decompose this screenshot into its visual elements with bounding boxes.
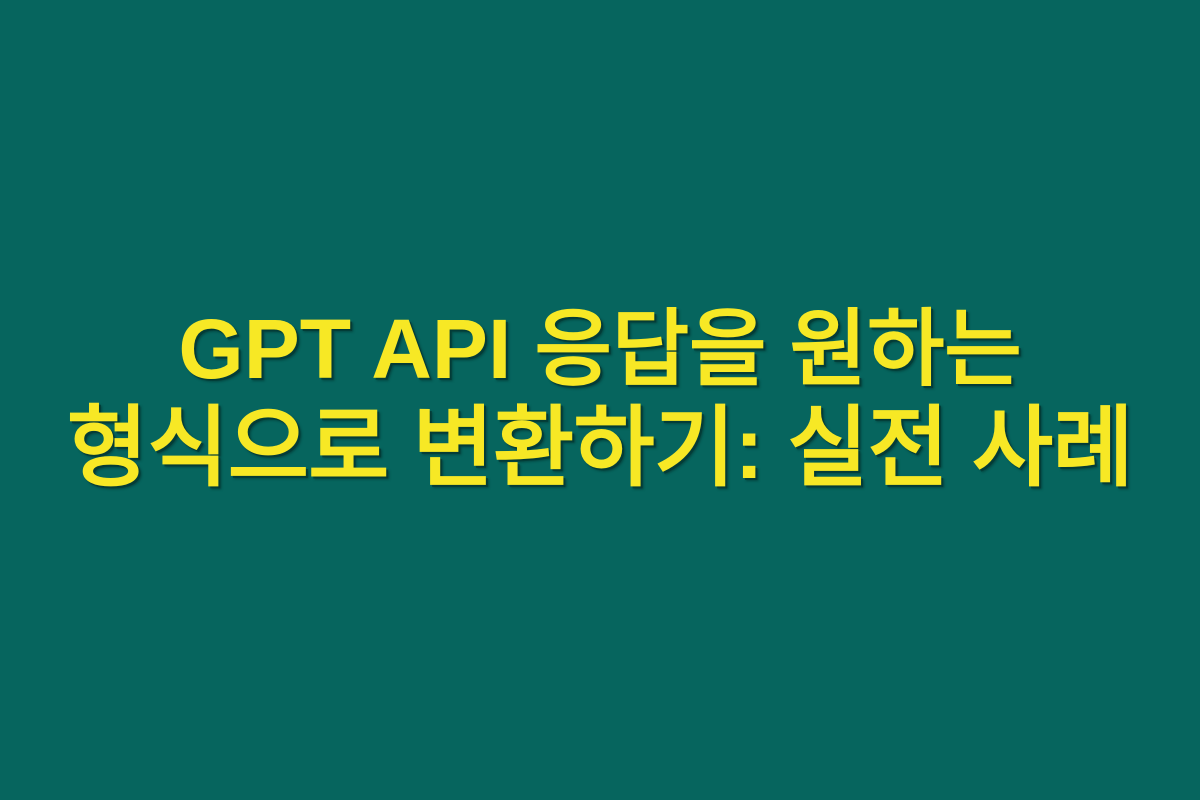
page-title: GPT API 응답을 원하는 형식으로 변환하기: 실전 사례 xyxy=(30,302,1170,498)
title-line-2: 형식으로 변환하기: 실전 사례 xyxy=(40,398,1160,498)
title-card: GPT API 응답을 원하는 형식으로 변환하기: 실전 사례 xyxy=(0,0,1200,800)
title-line-1: GPT API 응답을 원하는 xyxy=(40,302,1160,398)
